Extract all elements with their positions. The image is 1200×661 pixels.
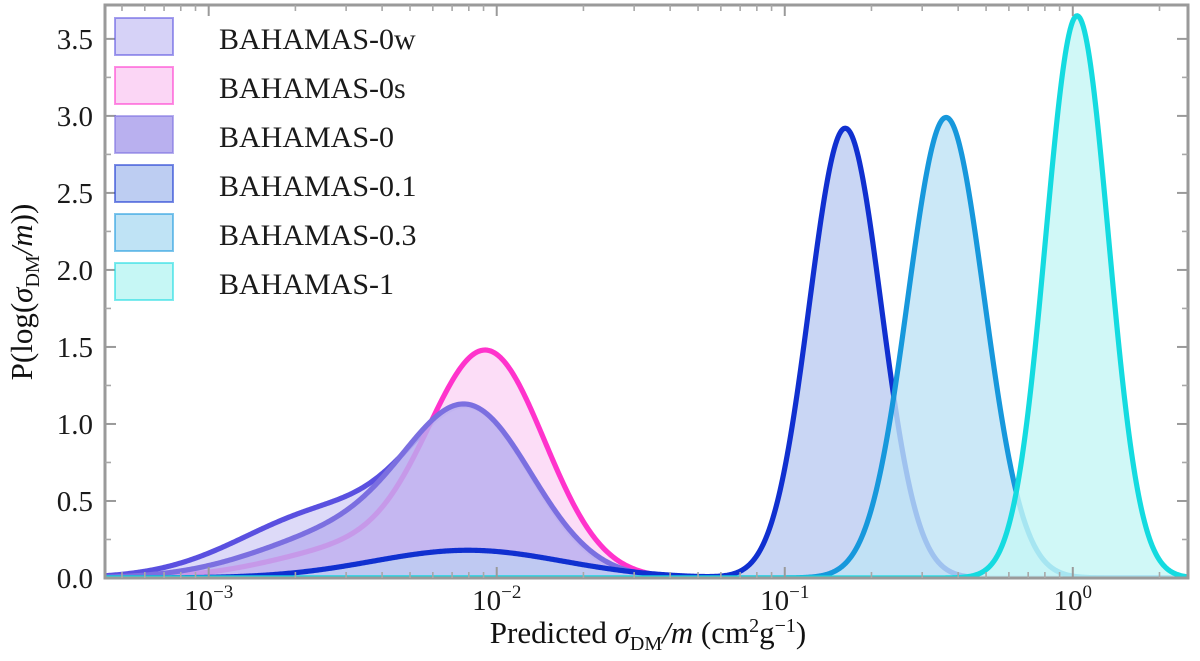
- y-axis-title-slash-m: /m: [4, 224, 39, 257]
- legend: BAHAMAS-0wBAHAMAS-0sBAHAMAS-0BAHAMAS-0.1…: [115, 18, 417, 301]
- svg-text:10−3: 10−3: [184, 582, 233, 617]
- legend-swatch: [115, 214, 173, 251]
- distribution-plot: 10−310−210−1100 0.00.51.01.52.02.53.03.5…: [0, 0, 1200, 661]
- svg-text:10−2: 10−2: [472, 582, 521, 617]
- legend-label: BAHAMAS-1: [219, 268, 394, 301]
- y-tick-label: 1.5: [57, 332, 93, 364]
- svg-text:100: 100: [1054, 582, 1093, 617]
- legend-entry[interactable]: BAHAMAS-0.1: [115, 165, 417, 203]
- legend-label: BAHAMAS-0.3: [219, 219, 417, 252]
- svg-text:10−1: 10−1: [760, 582, 809, 617]
- x-axis-title-units-g: g: [759, 615, 775, 650]
- legend-entry[interactable]: BAHAMAS-0: [115, 116, 394, 154]
- figure-root: 10−310−210−1100 0.00.51.01.52.02.53.03.5…: [0, 0, 1200, 661]
- legend-entry[interactable]: BAHAMAS-0w: [115, 18, 416, 56]
- x-tick-label: 10−2: [472, 582, 521, 617]
- x-tick-labels: 10−310−210−1100: [184, 582, 1092, 617]
- x-tick-label: 10−3: [184, 582, 233, 617]
- y-axis-title: P(log(σDM/m)): [4, 204, 44, 381]
- x-axis-title-subscript: DM: [630, 633, 662, 655]
- legend-entry[interactable]: BAHAMAS-1: [115, 263, 394, 301]
- legend-label: BAHAMAS-0s: [219, 72, 406, 105]
- y-tick-label: 0.0: [57, 563, 93, 595]
- x-tick-label: 100: [1054, 582, 1093, 617]
- legend-swatch: [115, 263, 173, 300]
- x-axis-title-units-close: ): [796, 615, 806, 650]
- y-tick-label: 2.5: [57, 178, 93, 210]
- x-tick-label: 10−1: [760, 582, 809, 617]
- legend-swatch: [115, 18, 173, 55]
- y-axis-title-subscript: DM: [22, 255, 44, 287]
- x-axis-title: Predicted σDM/m (cm2g−1): [490, 615, 806, 655]
- legend-swatch: [115, 116, 173, 153]
- y-tick-labels: 0.00.51.01.52.02.53.03.5: [57, 24, 93, 595]
- svg-text:Predicted σDM/m (cm2g−1): Predicted σDM/m (cm2g−1): [490, 615, 806, 655]
- x-axis-title-units-sup2: −1: [775, 615, 796, 637]
- y-axis-title-close: )): [4, 204, 39, 225]
- y-tick-label: 3.5: [57, 24, 93, 56]
- y-tick-label: 3.0: [57, 101, 93, 133]
- y-tick-label: 1.0: [57, 409, 93, 441]
- svg-text:P(log(σDM/m)): P(log(σDM/m)): [4, 204, 44, 381]
- legend-swatch: [115, 67, 173, 104]
- legend-label: BAHAMAS-0w: [219, 23, 416, 56]
- x-axis-title-units-sup1: 2: [749, 615, 759, 637]
- legend-label: BAHAMAS-0: [219, 121, 394, 154]
- legend-swatch: [115, 165, 173, 202]
- y-axis-title-open: P(log(: [4, 303, 39, 381]
- x-axis-title-units-open: (cm: [693, 615, 749, 650]
- x-axis-title-slash-m: /m: [660, 615, 693, 650]
- legend-entry[interactable]: BAHAMAS-0.3: [115, 214, 417, 252]
- legend-label: BAHAMAS-0.1: [219, 170, 417, 203]
- y-tick-label: 0.5: [57, 486, 93, 518]
- legend-entry[interactable]: BAHAMAS-0s: [115, 67, 406, 105]
- x-axis-title-lead: Predicted: [490, 615, 615, 650]
- y-tick-label: 2.0: [57, 255, 93, 287]
